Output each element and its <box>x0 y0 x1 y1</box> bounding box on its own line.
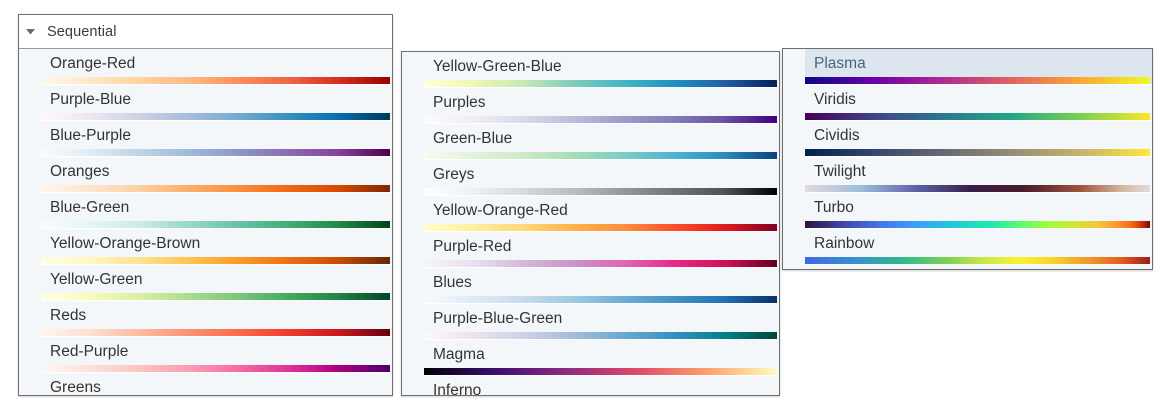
palette-row-label: Greys <box>433 164 474 186</box>
palette-row-label: Reds <box>50 305 86 327</box>
palette-row[interactable]: Twilight <box>783 157 1152 193</box>
palette-row-label: Rainbow <box>814 233 874 255</box>
palette-gradient-swatch <box>41 77 390 84</box>
palette-gradient-swatch <box>41 329 390 336</box>
palette-row-label: Purples <box>433 92 486 114</box>
palette-gradient-swatch <box>805 257 1150 264</box>
palette-gradient-swatch <box>805 113 1150 120</box>
palette-row-label: Blues <box>433 272 472 294</box>
palette-row[interactable]: Red-Purple <box>19 337 392 373</box>
palette-row[interactable]: Blues <box>402 268 779 304</box>
palette-row[interactable]: Yellow-Green-Blue <box>402 52 779 88</box>
palette-row-label: Oranges <box>50 161 109 183</box>
palette-row[interactable]: Plasma <box>783 49 1152 85</box>
palette-gradient-swatch <box>424 260 777 267</box>
palette-row-body: Green-Blue <box>424 124 779 160</box>
palette-row-body: Reds <box>41 301 392 337</box>
middle-palette-panel: Yellow-Green-BluePurplesGreen-BlueGreysY… <box>401 51 780 396</box>
palette-row[interactable]: Inferno <box>402 376 779 396</box>
palette-row-label: Twilight <box>814 161 866 183</box>
palette-row[interactable]: Reds <box>19 301 392 337</box>
palette-gradient-swatch <box>424 188 777 195</box>
palette-row[interactable]: Blue-Green <box>19 193 392 229</box>
palette-gradient-swatch <box>41 113 390 120</box>
caret-down-icon[interactable] <box>19 28 41 35</box>
palette-row-body: Turbo <box>805 193 1152 229</box>
palette-gradient-swatch <box>424 296 777 303</box>
palette-row-body: Viridis <box>805 85 1152 121</box>
palette-row-body: Purples <box>424 88 779 124</box>
palette-gradient-swatch <box>424 224 777 231</box>
palette-gradient-swatch <box>424 80 777 87</box>
palette-row-label: Inferno <box>433 380 481 396</box>
palette-row-body: Blue-Purple <box>41 121 392 157</box>
palette-row[interactable]: Green-Blue <box>402 124 779 160</box>
palette-list-right: PlasmaViridisCividisTwilightTurboRainbow <box>783 49 1152 265</box>
group-header-sequential[interactable]: Sequential <box>19 15 392 49</box>
palette-gradient-swatch <box>41 257 390 264</box>
right-palette-panel: PlasmaViridisCividisTwilightTurboRainbow <box>782 48 1153 270</box>
palette-row[interactable]: Rainbow <box>783 229 1152 265</box>
palette-row-body: Yellow-Green-Blue <box>424 52 779 88</box>
palette-row-body: Blue-Green <box>41 193 392 229</box>
palette-row-label: Turbo <box>814 197 854 219</box>
palette-row-body: Orange-Red <box>41 49 392 85</box>
palette-row-body: Cividis <box>805 121 1152 157</box>
palette-row-body: Inferno <box>424 376 779 396</box>
palette-gradient-swatch <box>805 77 1150 84</box>
palette-gradient-swatch <box>424 368 777 375</box>
palette-row[interactable]: Magma <box>402 340 779 376</box>
palette-row-body: Red-Purple <box>41 337 392 373</box>
palette-row-label: Green-Blue <box>433 128 512 150</box>
palette-row-label: Red-Purple <box>50 341 128 363</box>
palette-row[interactable]: Yellow-Orange-Red <box>402 196 779 232</box>
palette-row-body: Yellow-Orange-Brown <box>41 229 392 265</box>
palette-row-label: Viridis <box>814 89 856 111</box>
sequential-palette-panel: Sequential Orange-RedPurple-BlueBlue-Pur… <box>18 14 393 396</box>
palette-row-label: Orange-Red <box>50 53 135 75</box>
palette-row-label: Blue-Green <box>50 197 129 219</box>
palette-row[interactable]: Turbo <box>783 193 1152 229</box>
palette-row-body: Oranges <box>41 157 392 193</box>
palette-row-body: Rainbow <box>805 229 1152 265</box>
palette-row-label: Purple-Blue <box>50 89 131 111</box>
palette-gradient-swatch <box>41 149 390 156</box>
palette-row-body: Purple-Blue-Green <box>424 304 779 340</box>
palette-gradient-swatch <box>41 365 390 372</box>
palette-gradient-swatch <box>424 332 777 339</box>
palette-row-body: Yellow-Orange-Red <box>424 196 779 232</box>
palette-gradient-swatch <box>41 293 390 300</box>
palette-row-body: Greys <box>424 160 779 196</box>
palette-gradient-swatch <box>41 185 390 192</box>
palette-row-body: Twilight <box>805 157 1152 193</box>
palette-row[interactable]: Blue-Purple <box>19 121 392 157</box>
palette-row-label: Cividis <box>814 125 860 147</box>
palette-row-label: Magma <box>433 344 485 366</box>
palette-row-label: Plasma <box>814 53 866 75</box>
palette-gradient-swatch <box>41 221 390 228</box>
palette-row[interactable]: Purples <box>402 88 779 124</box>
palette-gradient-swatch <box>805 149 1150 156</box>
palette-row[interactable]: Oranges <box>19 157 392 193</box>
palette-row-body: Plasma <box>805 49 1152 85</box>
palette-row-label: Yellow-Orange-Brown <box>50 233 200 255</box>
palette-row[interactable]: Purple-Red <box>402 232 779 268</box>
palette-row-body: Purple-Red <box>424 232 779 268</box>
palette-row-body: Yellow-Green <box>41 265 392 301</box>
palette-row[interactable]: Yellow-Orange-Brown <box>19 229 392 265</box>
palette-row[interactable]: Orange-Red <box>19 49 392 85</box>
palette-list-sequential: Orange-RedPurple-BlueBlue-PurpleOrangesB… <box>19 49 392 396</box>
palette-row-label: Yellow-Green-Blue <box>433 56 562 78</box>
palette-row-body: Blues <box>424 268 779 304</box>
palette-row-label: Yellow-Orange-Red <box>433 200 568 222</box>
palette-list-middle: Yellow-Green-BluePurplesGreen-BlueGreysY… <box>402 52 779 396</box>
palette-row-body: Magma <box>424 340 779 376</box>
palette-row-label: Greens <box>50 377 101 396</box>
palette-gradient-swatch <box>424 116 777 123</box>
palette-gradient-swatch <box>424 152 777 159</box>
palette-row[interactable]: Greens <box>19 373 392 396</box>
palette-row[interactable]: Viridis <box>783 85 1152 121</box>
palette-row[interactable]: Cividis <box>783 121 1152 157</box>
palette-row-label: Purple-Red <box>433 236 511 258</box>
group-header-label: Sequential <box>41 24 117 40</box>
palette-gradient-swatch <box>805 221 1150 228</box>
palette-row-label: Yellow-Green <box>50 269 142 291</box>
palette-gradient-swatch <box>805 185 1150 192</box>
palette-row[interactable]: Yellow-Green <box>19 265 392 301</box>
palette-row[interactable]: Greys <box>402 160 779 196</box>
palette-row-label: Purple-Blue-Green <box>433 308 562 330</box>
palette-row[interactable]: Purple-Blue <box>19 85 392 121</box>
palette-row-label: Blue-Purple <box>50 125 131 147</box>
palette-row-body: Purple-Blue <box>41 85 392 121</box>
palette-row[interactable]: Purple-Blue-Green <box>402 304 779 340</box>
palette-row-body: Greens <box>41 373 392 396</box>
